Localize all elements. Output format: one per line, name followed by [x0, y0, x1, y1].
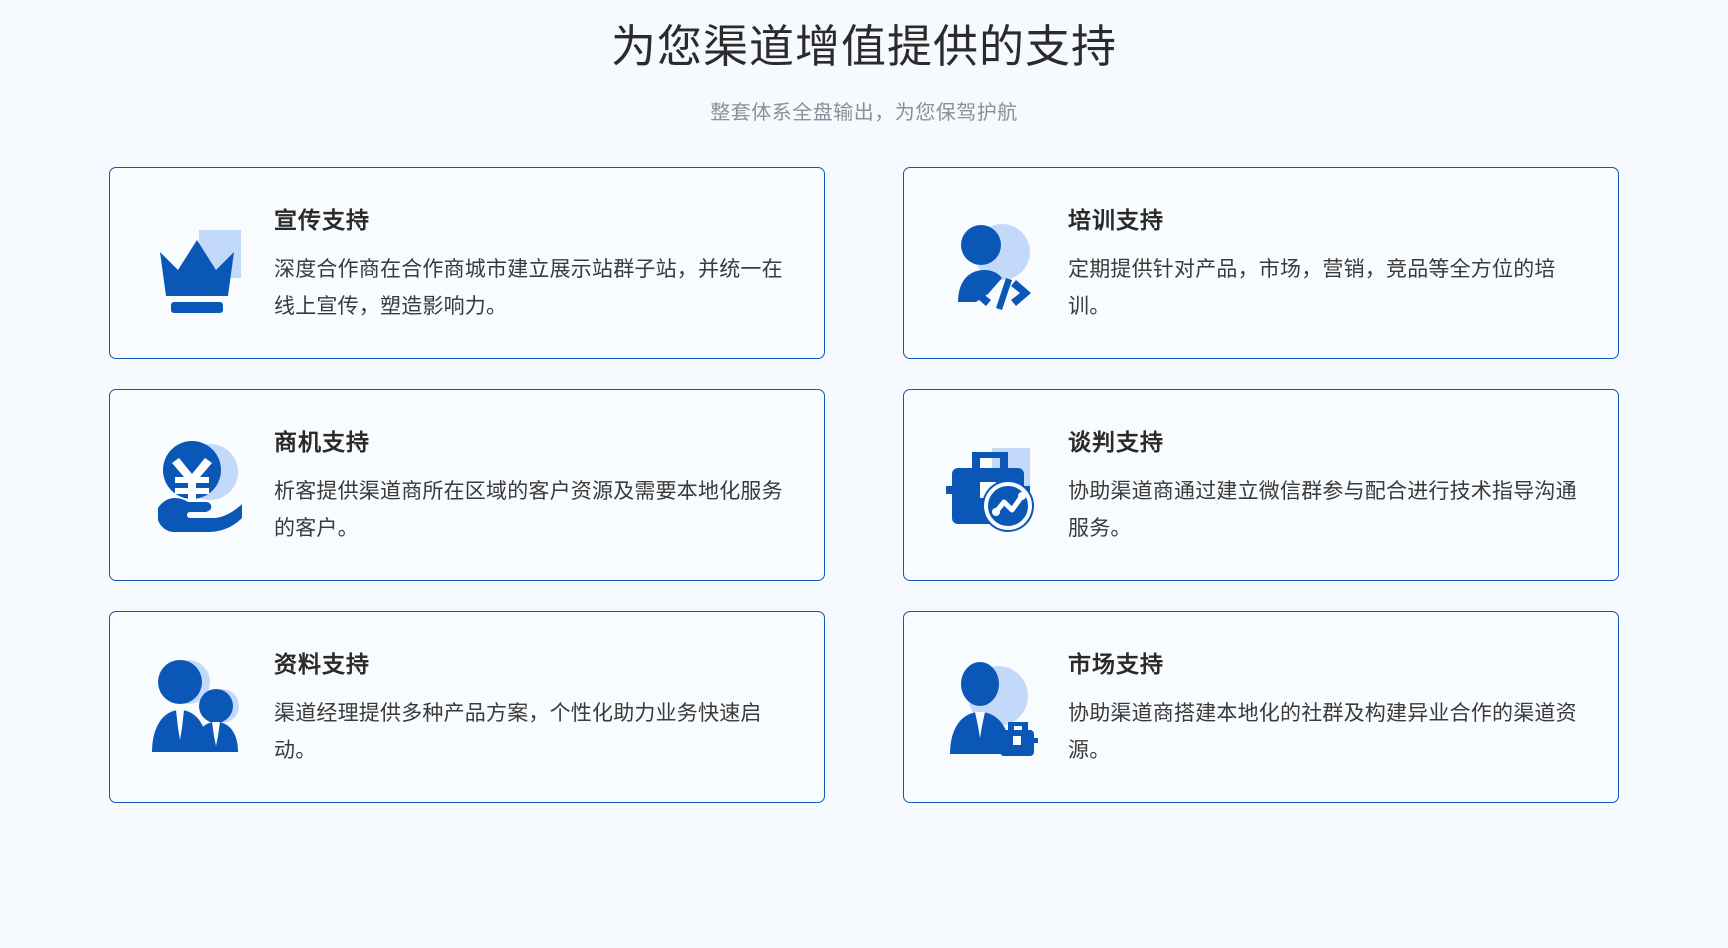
two-people-icon	[140, 648, 258, 766]
support-card-negotiation[interactable]: 谈判支持 协助渠道商通过建立微信群参与配合进行技术指导沟通服务。	[903, 389, 1619, 581]
card-description: 渠道经理提供多种产品方案，个性化助力业务快速启动。	[274, 695, 794, 770]
card-description: 定期提供针对产品，市场，营销，竞品等全方位的培训。	[1068, 251, 1588, 326]
card-title: 商机支持	[274, 423, 794, 457]
support-card-body: 资料支持 渠道经理提供多种产品方案，个性化助力业务快速启动。	[258, 645, 798, 770]
card-description: 深度合作商在合作商城市建立展示站群子站，并统一在线上宣传，塑造影响力。	[274, 251, 794, 326]
businessperson-briefcase-icon	[934, 648, 1052, 766]
card-title: 谈判支持	[1068, 423, 1588, 457]
card-description: 析客提供渠道商所在区域的客户资源及需要本地化服务的客户。	[274, 473, 794, 548]
support-section-page: 为您渠道增值提供的支持 整套体系全盘输出，为您保驾护航 宣传支持 深度合作商在合…	[0, 0, 1728, 948]
support-card-market[interactable]: 市场支持 协助渠道商搭建本地化的社群及构建异业合作的渠道资源。	[903, 611, 1619, 803]
crown-icon	[140, 204, 258, 322]
briefcase-chart-icon	[934, 426, 1052, 544]
support-card-body: 培训支持 定期提供针对产品，市场，营销，竞品等全方位的培训。	[1052, 201, 1592, 326]
card-title: 市场支持	[1068, 645, 1588, 679]
page-title: 为您渠道增值提供的支持	[0, 20, 1728, 74]
card-description: 协助渠道商搭建本地化的社群及构建异业合作的渠道资源。	[1068, 695, 1588, 770]
card-title: 培训支持	[1068, 201, 1588, 235]
card-description: 协助渠道商通过建立微信群参与配合进行技术指导沟通服务。	[1068, 473, 1588, 548]
support-card-body: 宣传支持 深度合作商在合作商城市建立展示站群子站，并统一在线上宣传，塑造影响力。	[258, 201, 798, 326]
section-header: 为您渠道增值提供的支持 整套体系全盘输出，为您保驾护航	[0, 0, 1728, 125]
person-code-icon	[934, 204, 1052, 322]
support-card-opportunity[interactable]: 商机支持 析客提供渠道商所在区域的客户资源及需要本地化服务的客户。	[109, 389, 825, 581]
support-card-materials[interactable]: 资料支持 渠道经理提供多种产品方案，个性化助力业务快速启动。	[109, 611, 825, 803]
support-card-publicity[interactable]: 宣传支持 深度合作商在合作商城市建立展示站群子站，并统一在线上宣传，塑造影响力。	[109, 167, 825, 359]
card-title: 宣传支持	[274, 201, 794, 235]
support-card-body: 市场支持 协助渠道商搭建本地化的社群及构建异业合作的渠道资源。	[1052, 645, 1592, 770]
support-card-training[interactable]: 培训支持 定期提供针对产品，市场，营销，竞品等全方位的培训。	[903, 167, 1619, 359]
support-card-grid: 宣传支持 深度合作商在合作商城市建立展示站群子站，并统一在线上宣传，塑造影响力。…	[109, 167, 1619, 803]
card-title: 资料支持	[274, 645, 794, 679]
page-subtitle: 整套体系全盘输出，为您保驾护航	[0, 96, 1728, 125]
support-card-body: 商机支持 析客提供渠道商所在区域的客户资源及需要本地化服务的客户。	[258, 423, 798, 548]
hand-yuan-icon	[140, 426, 258, 544]
support-card-body: 谈判支持 协助渠道商通过建立微信群参与配合进行技术指导沟通服务。	[1052, 423, 1592, 548]
